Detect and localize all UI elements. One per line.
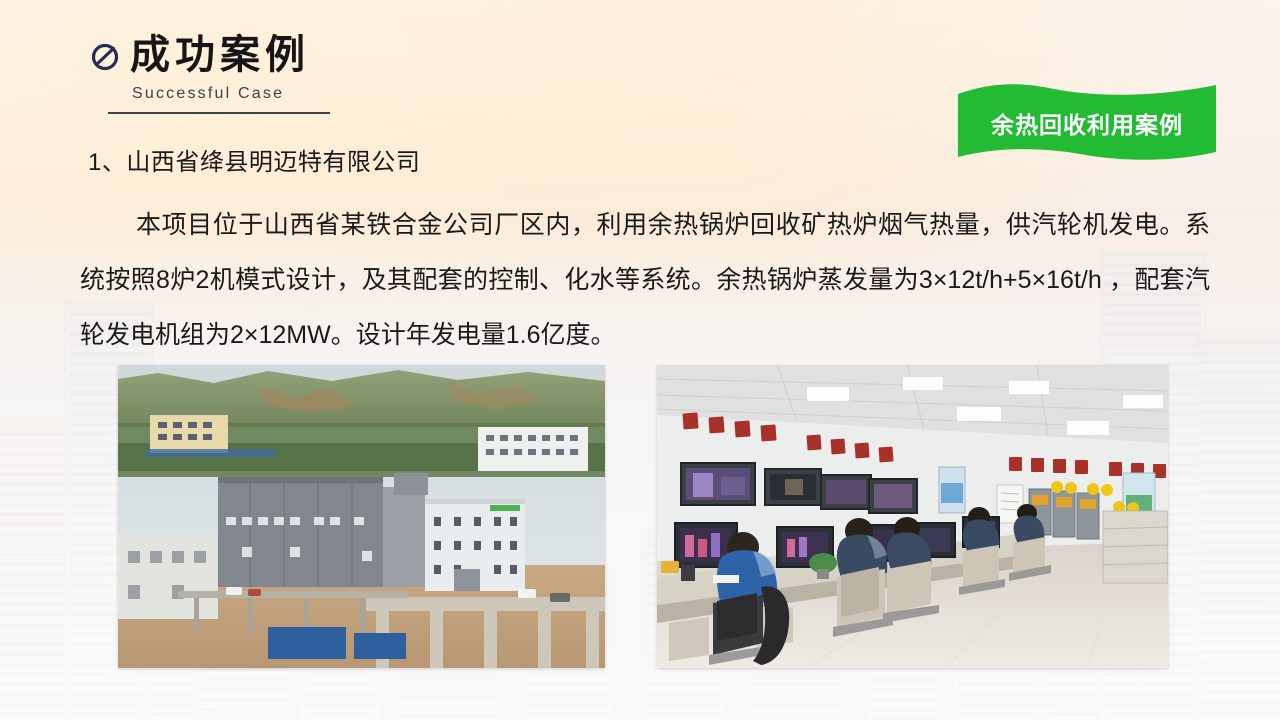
page-subtitle: Successful Case (132, 85, 510, 103)
ribbon-banner: 余热回收利用案例 (958, 84, 1216, 162)
case-heading: 1、山西省绛县明迈特有限公司 (88, 142, 420, 177)
circle-slash-icon (90, 42, 120, 72)
case-body-text: 本项目位于山西省某铁合金公司厂区内，利用余热锅炉回收矿热炉烟气热量，供汽轮机发电… (80, 198, 1210, 363)
title-divider (108, 112, 330, 114)
control-room-photo (657, 365, 1168, 668)
page-title: 成功案例 (130, 34, 310, 76)
plant-exterior-photo (118, 365, 605, 668)
slide-title-block: 成功案例 Successful Case (90, 34, 510, 114)
slide-canvas: 成功案例 Successful Case 余热回收利用案例 1、山西省绛县明迈特… (0, 0, 1280, 720)
ribbon-label: 余热回收利用案例 (958, 106, 1216, 140)
